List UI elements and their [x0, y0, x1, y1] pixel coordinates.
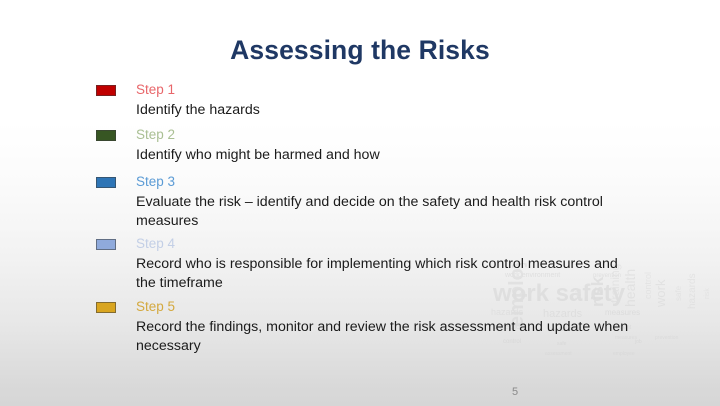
step-body-4: Record who is responsible for implementi… — [136, 255, 641, 292]
step-swatch-1 — [96, 85, 116, 96]
svg-text:risk: risk — [704, 288, 711, 299]
step-header-4: Step 4 — [96, 238, 648, 254]
step-swatch-3 — [96, 177, 116, 188]
step-item-5: Step 5 Record the findings, monitor and … — [96, 301, 648, 355]
step-body-2: Identify who might be harmed and how — [136, 146, 641, 165]
step-item-3: Step 3 Evaluate the risk – identify and … — [96, 176, 648, 230]
step-label-3: Step 3 — [136, 174, 175, 190]
step-label-2: Step 2 — [136, 127, 175, 143]
step-header-2: Step 2 — [96, 129, 648, 145]
step-swatch-2 — [96, 130, 116, 141]
svg-text:safe: safe — [674, 285, 683, 301]
svg-text:work: work — [653, 279, 668, 308]
page-number: 5 — [0, 386, 720, 398]
step-body-1: Identify the hazards — [136, 101, 641, 120]
svg-text:prevention: prevention — [655, 335, 679, 341]
step-swatch-5 — [96, 302, 116, 313]
svg-text:hazards: hazards — [687, 273, 698, 309]
step-swatch-4 — [96, 239, 116, 250]
step-label-5: Step 5 — [136, 299, 175, 315]
step-label-1: Step 1 — [136, 82, 175, 98]
step-body-5: Record the findings, monitor and review … — [136, 318, 641, 355]
step-label-4: Step 4 — [136, 236, 175, 252]
step-body-3: Evaluate the risk – identify and decide … — [136, 193, 641, 230]
step-header-5: Step 5 — [96, 301, 648, 317]
step-header-1: Step 1 — [96, 84, 648, 100]
step-item-4: Step 4 Record who is responsible for imp… — [96, 238, 648, 292]
step-item-1: Step 1 Identify the hazards — [96, 84, 648, 120]
step-item-2: Step 2 Identify who might be harmed and … — [96, 129, 648, 165]
page-title: Assessing the Risks — [0, 35, 720, 66]
slide-canvas: work safety work environment prevention … — [0, 0, 720, 406]
step-header-3: Step 3 — [96, 176, 648, 192]
